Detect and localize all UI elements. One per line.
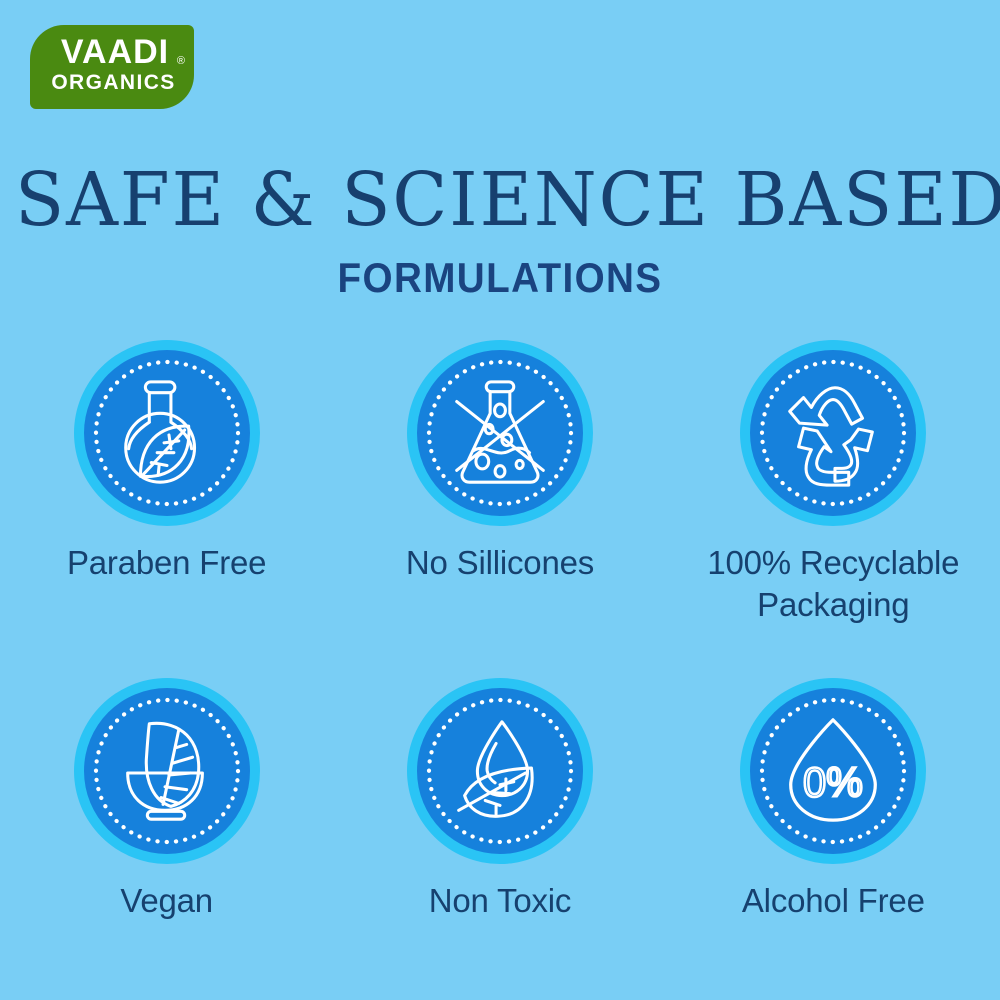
badge-disc bbox=[417, 350, 583, 516]
badge-label: Vegan bbox=[17, 880, 317, 922]
badge-ring bbox=[74, 340, 260, 526]
badge-label: Alcohol Free bbox=[683, 880, 983, 922]
droplet-zero-percent-icon: 0% bbox=[774, 712, 892, 830]
badge-disc: 0% bbox=[750, 688, 916, 854]
page-title: SAFE & SCIENCE BASED bbox=[15, 160, 985, 240]
badge-paraben-free[interactable]: Paraben Free bbox=[0, 340, 333, 640]
badge-disc bbox=[417, 688, 583, 854]
flask-with-leaf-icon bbox=[108, 374, 226, 492]
badge-label: Paraben Free bbox=[17, 542, 317, 584]
badge-ring: 0% bbox=[740, 678, 926, 864]
badge-disc bbox=[84, 350, 250, 516]
bowl-with-leaf-icon bbox=[108, 712, 226, 830]
brand-logo: VAADI ® ORGANICS bbox=[30, 25, 194, 109]
recycle-icon bbox=[774, 374, 892, 492]
badge-no-sillicones[interactable]: No Sillicones bbox=[333, 340, 666, 640]
badge-alcohol-free[interactable]: 0% Alcohol Free bbox=[667, 678, 1000, 978]
badge-label: 100% Recyclable Packaging bbox=[683, 542, 983, 626]
promo-poster: VAADI ® ORGANICS SAFE & SCIENCE BASED FO… bbox=[0, 0, 1000, 1000]
badge-disc bbox=[84, 688, 250, 854]
badge-recyclable-packaging[interactable]: 100% Recyclable Packaging bbox=[667, 340, 1000, 640]
brand-name: VAADI bbox=[30, 34, 194, 70]
badge-vegan[interactable]: Vegan bbox=[0, 678, 333, 978]
badge-non-toxic[interactable]: Non Toxic bbox=[333, 678, 666, 978]
badge-ring bbox=[74, 678, 260, 864]
zero-percent-label: 0% bbox=[803, 760, 863, 806]
badge-label: Non Toxic bbox=[350, 880, 650, 922]
badge-ring bbox=[407, 678, 593, 864]
brand-tagline: ORGANICS bbox=[30, 70, 194, 95]
badge-ring bbox=[407, 340, 593, 526]
droplet-with-leaf-icon bbox=[441, 712, 559, 830]
badge-ring bbox=[740, 340, 926, 526]
page-subtitle: FORMULATIONS bbox=[40, 255, 960, 301]
badge-disc bbox=[750, 350, 916, 516]
registered-trademark-icon: ® bbox=[177, 56, 185, 67]
feature-badge-grid: Paraben Free bbox=[0, 340, 1000, 960]
badge-label: No Sillicones bbox=[350, 542, 650, 584]
badge-row: Vegan bbox=[0, 678, 1000, 978]
crossed-out-erlenmeyer-flask-icon bbox=[441, 374, 559, 492]
badge-row: Paraben Free bbox=[0, 340, 1000, 640]
